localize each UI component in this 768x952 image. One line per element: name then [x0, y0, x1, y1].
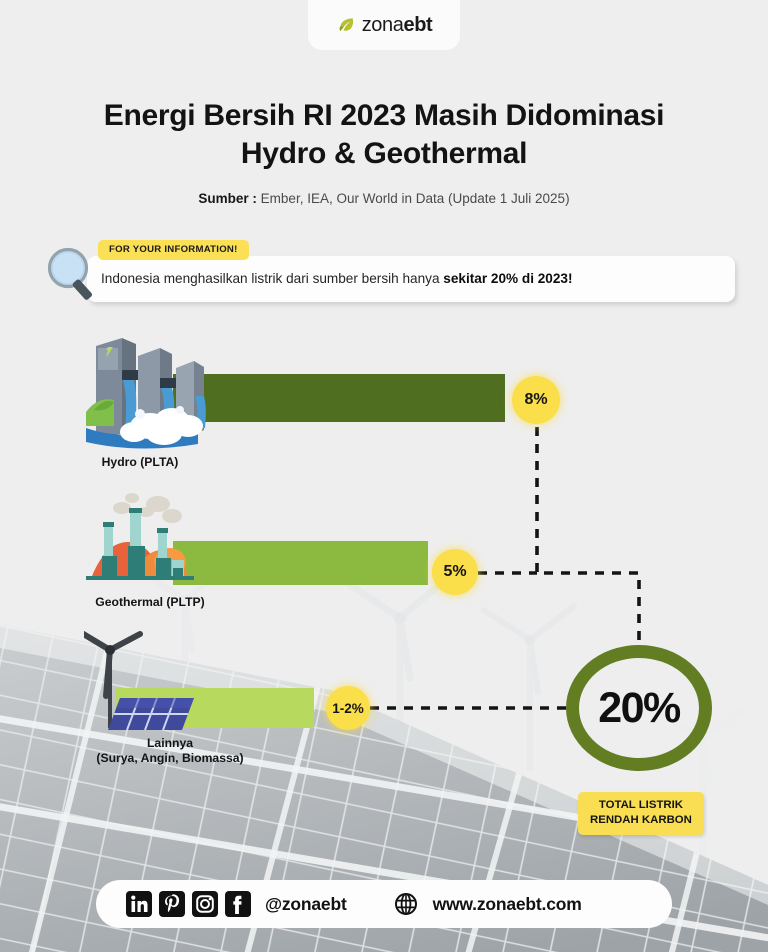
hydro-dam-icon	[76, 334, 208, 450]
social-links	[126, 891, 251, 917]
value-badge-lainnya: 1-2%	[326, 686, 370, 730]
info-text-bold: sekitar 20% di 2023!	[443, 271, 572, 286]
zonaebt-leaf-icon	[336, 15, 356, 35]
website-url[interactable]: www.zonaebt.com	[433, 894, 582, 915]
value-badge-hydro: 8%	[512, 376, 560, 424]
social-handle[interactable]: @zonaebt	[265, 894, 347, 915]
value-badge-geothermal-text: 5%	[443, 563, 466, 581]
total-caption-line2: RENDAH KARBON	[590, 813, 692, 828]
page-title: Energi Bersih RI 2023 Masih Didominasi H…	[0, 97, 768, 174]
source-value: Ember, IEA, Our World in Data (Update 1 …	[257, 191, 570, 206]
bar-label-lainnya: Lainnya (Surya, Angin, Biomassa)	[50, 736, 290, 767]
total-percentage-text: 20%	[598, 684, 680, 733]
bar-label-hydro: Hydro (PLTA)	[70, 455, 210, 470]
geothermal-plant-icon	[74, 490, 204, 590]
bar-label-lainnya-line2: (Surya, Angin, Biomassa)	[50, 751, 290, 766]
source-label: Sumber :	[198, 191, 257, 206]
info-text-plain: Indonesia menghasilkan listrik dari sumb…	[101, 271, 443, 286]
info-callout-text: Indonesia menghasilkan listrik dari sumb…	[101, 265, 726, 293]
solar-panel	[108, 698, 194, 730]
globe-icon	[393, 891, 419, 917]
bar-label-geothermal: Geothermal (PLTP)	[60, 595, 240, 610]
brand-logo[interactable]: zonaebt	[308, 0, 460, 50]
title-line-1: Energi Bersih RI 2023 Masih Didominasi	[0, 97, 768, 135]
source-line: Sumber : Ember, IEA, Our World in Data (…	[0, 191, 768, 206]
facebook-icon[interactable]	[225, 891, 251, 917]
logo-text-light: zona	[362, 14, 404, 36]
total-caption-badge: TOTAL LISTRIK RENDAH KARBON	[578, 792, 704, 835]
bar-label-lainnya-line1: Lainnya	[50, 736, 290, 751]
total-caption-line1: TOTAL LISTRIK	[590, 798, 692, 813]
bar-label-geothermal-line1: Geothermal (PLTP)	[60, 595, 240, 610]
logo-text-bold: ebt	[403, 14, 432, 36]
bar-geothermal	[173, 541, 428, 585]
pinterest-icon[interactable]	[159, 891, 185, 917]
brand-logo-text: zonaebt	[362, 14, 433, 37]
value-badge-lainnya-text: 1-2%	[332, 701, 364, 716]
bar-hydro	[173, 374, 505, 422]
footer-bar: @zonaebt www.zonaebt.com	[96, 880, 672, 928]
linkedin-icon[interactable]	[126, 891, 152, 917]
magnifying-glass-icon	[42, 246, 104, 304]
total-percentage-circle: 20%	[566, 645, 712, 771]
title-line-2: Hydro & Geothermal	[0, 135, 768, 173]
value-badge-geothermal: 5%	[432, 549, 478, 595]
wind-solar-icon	[84, 624, 208, 740]
value-badge-hydro-text: 8%	[524, 391, 547, 409]
instagram-icon[interactable]	[192, 891, 218, 917]
fyi-badge: FOR YOUR INFORMATION!	[98, 240, 249, 260]
bar-label-hydro-line1: Hydro (PLTA)	[70, 455, 210, 470]
